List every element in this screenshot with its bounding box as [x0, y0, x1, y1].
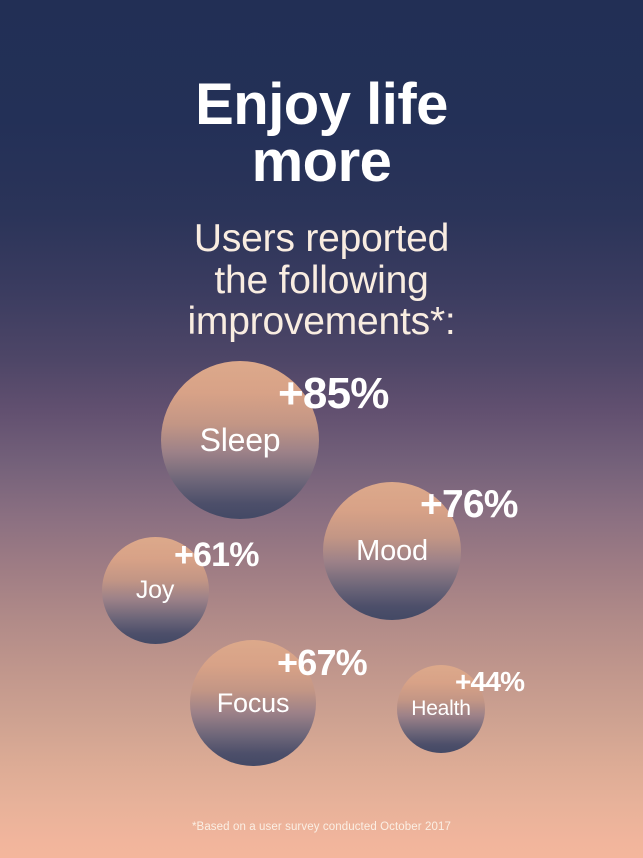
bubble-value: +76%: [420, 485, 518, 524]
bubble-value: +44%: [455, 668, 524, 696]
poster-canvas: Enjoy life more Users reported the follo…: [0, 0, 643, 858]
bubble-chart: Sleep+85%Mood+76%Focus+67%Joy+61%Health+…: [0, 0, 643, 858]
footnote: *Based on a user survey conducted Octobe…: [0, 821, 643, 833]
bubble-value: +67%: [277, 645, 367, 681]
bubble-value: +61%: [174, 538, 259, 572]
bubble-value: +85%: [278, 372, 389, 416]
